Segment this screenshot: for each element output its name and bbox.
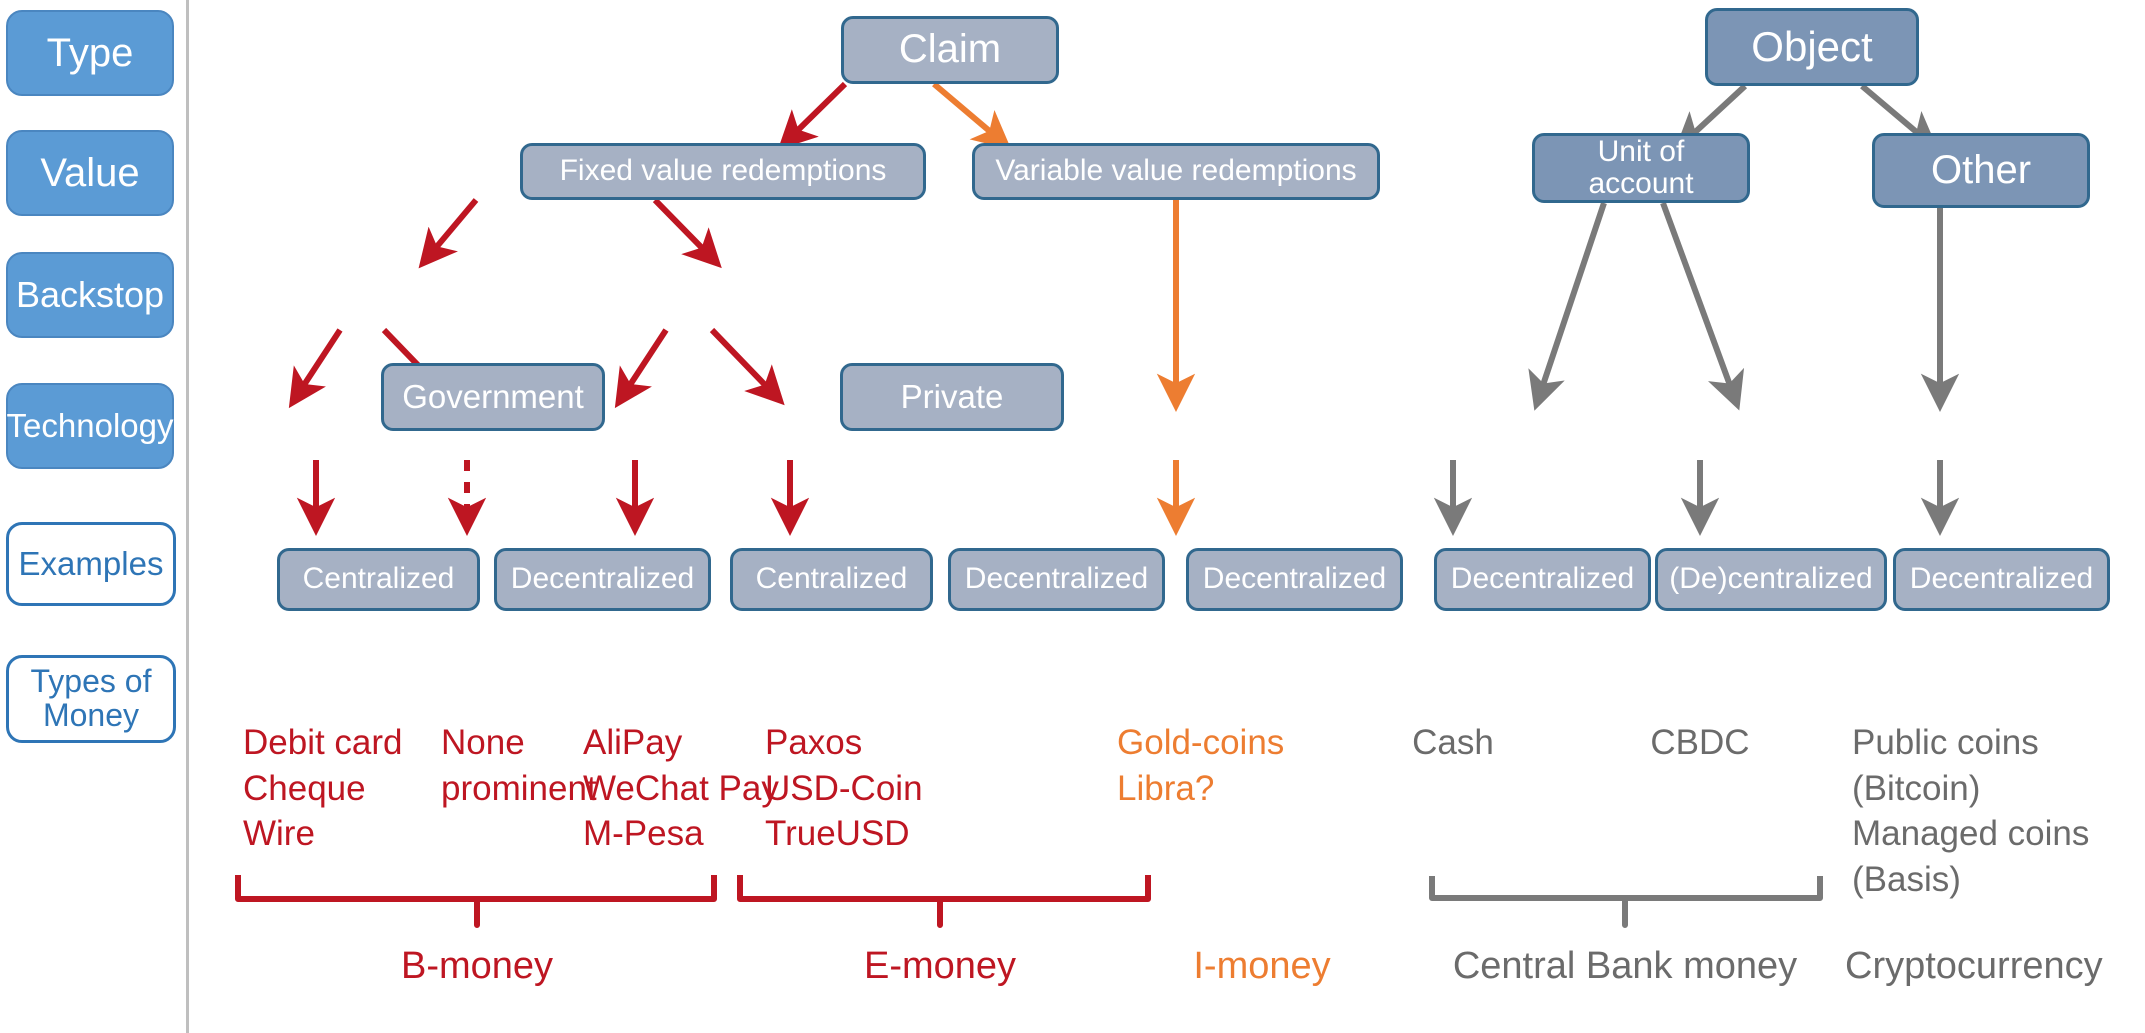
row-label-type[interactable]: Type — [6, 10, 174, 96]
node-unit-of-account-label: Unit of account — [1588, 136, 1693, 201]
row-label-types-of-money[interactable]: Types of Money — [6, 655, 176, 743]
arrow-government-to-centralized — [302, 330, 340, 388]
arrow-object-to-other — [1862, 86, 1920, 135]
examples-cash: Cash — [1343, 720, 1563, 766]
row-label-technology[interactable]: Technology — [6, 383, 174, 469]
node-tech-gov-centralized[interactable]: Centralized — [277, 548, 480, 611]
node-other-label: Other — [1931, 149, 2031, 192]
node-government-label: Government — [402, 379, 584, 415]
arrow-private-to-centralized — [628, 330, 666, 388]
row-label-type-text: Type — [47, 32, 134, 74]
node-fixed-value-redemptions[interactable]: Fixed value redemptions — [520, 143, 926, 200]
node-tech-priv-centralized[interactable]: Centralized — [730, 548, 933, 611]
node-claim[interactable]: Claim — [841, 16, 1059, 84]
examples-other: Public coins (Bitcoin) Managed coins (Ba… — [1852, 720, 2132, 902]
row-label-technology-text: Technology — [7, 409, 174, 444]
arrow-uoa-to-decentralized — [1542, 203, 1604, 388]
node-tech-other-decentralized-label: Decentralized — [1910, 563, 2093, 595]
node-tech-gov-decentralized[interactable]: Decentralized — [494, 548, 711, 611]
label-cryptocurrency: Cryptocurrency — [1845, 945, 2140, 988]
node-private-label: Private — [901, 379, 1004, 415]
node-government[interactable]: Government — [381, 363, 605, 431]
examples-gov-centralized: Debit card Cheque Wire — [243, 720, 463, 857]
row-label-backstop-text: Backstop — [16, 276, 164, 314]
node-tech-gov-centralized-label: Centralized — [303, 563, 455, 595]
node-tech-gov-decentralized-label: Decentralized — [511, 563, 694, 595]
arrow-fixed-to-government — [434, 200, 476, 250]
row-label-value-text: Value — [40, 152, 139, 194]
node-other[interactable]: Other — [1872, 133, 2090, 208]
node-object-label: Object — [1751, 24, 1872, 69]
row-label-backstop[interactable]: Backstop — [6, 252, 174, 338]
node-unit-of-account[interactable]: Unit of account — [1532, 133, 1750, 203]
brace-e-money — [740, 875, 1148, 925]
arrow-private-to-decentralized — [712, 330, 768, 388]
node-private[interactable]: Private — [840, 363, 1064, 431]
node-fixed-value-redemptions-label: Fixed value redemptions — [560, 155, 887, 187]
brace-central-bank-money — [1432, 876, 1820, 925]
node-tech-priv-centralized-label: Centralized — [756, 563, 908, 595]
node-tech-other-decentralized[interactable]: Decentralized — [1893, 548, 2110, 611]
node-tech-uoa-decentralized-label: Decentralized — [1451, 563, 1634, 595]
label-e-money: E-money — [820, 945, 1060, 988]
row-label-examples-text: Examples — [19, 547, 164, 582]
node-tech-priv-decentralized-label: Decentralized — [965, 563, 1148, 595]
row-label-value[interactable]: Value — [6, 130, 174, 216]
node-tech-uoa-decentralized[interactable]: Decentralized — [1434, 548, 1651, 611]
node-claim-label: Claim — [899, 28, 1001, 71]
arrow-claim-to-variable — [934, 84, 993, 134]
arrow-object-to-unit-of-account — [1692, 86, 1745, 135]
node-variable-value-redemptions[interactable]: Variable value redemptions — [972, 143, 1380, 200]
examples-cbdc: CBDC — [1590, 720, 1810, 766]
node-tech-priv-decentralized[interactable]: Decentralized — [948, 548, 1165, 611]
brace-b-money — [238, 875, 714, 925]
node-tech-variable-decentralized-label: Decentralized — [1203, 563, 1386, 595]
arrow-claim-to-fixed — [795, 84, 845, 133]
diagram-canvas: Type Value Backstop Technology Examples … — [0, 0, 2145, 1033]
node-object[interactable]: Object — [1705, 8, 1919, 86]
arrow-uoa-to-de-centralized — [1663, 203, 1731, 388]
row-label-types-of-money-text: Types of Money — [31, 665, 152, 732]
node-tech-uoa-de-centralized-label: (De)centralized — [1669, 563, 1872, 595]
row-label-examples[interactable]: Examples — [6, 522, 176, 606]
label-i-money: I-money — [1157, 945, 1367, 988]
node-variable-value-redemptions-label: Variable value redemptions — [995, 155, 1356, 187]
examples-variable: Gold-coins Libra? — [1117, 720, 1357, 811]
node-tech-variable-decentralized[interactable]: Decentralized — [1186, 548, 1403, 611]
label-central-bank-money: Central Bank money — [1430, 945, 1820, 988]
label-b-money: B-money — [357, 945, 597, 988]
examples-priv-decentralized: Paxos USD-Coin TrueUSD — [765, 720, 1005, 857]
node-tech-uoa-de-centralized[interactable]: (De)centralized — [1655, 548, 1887, 611]
arrow-fixed-to-private — [655, 200, 705, 251]
